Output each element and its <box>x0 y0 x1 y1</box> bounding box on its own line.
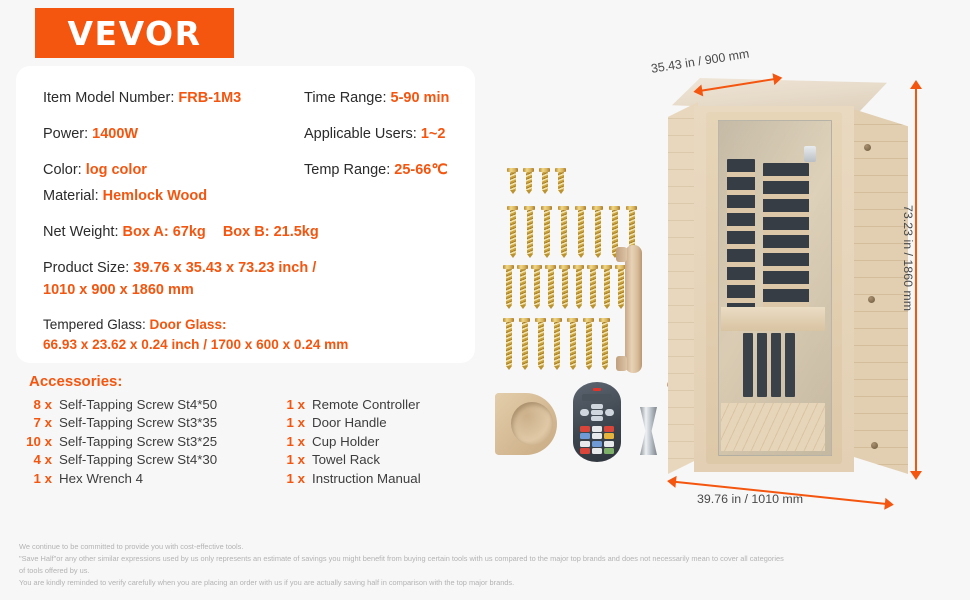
spec-value: 1~2 <box>421 126 446 142</box>
screw-icon <box>503 318 514 370</box>
spec-label: Material: <box>43 188 99 204</box>
spec-row-time-range: Time Range: 5-90 min <box>304 88 494 109</box>
accessory-name: Door Handle <box>312 415 387 430</box>
screw-icon <box>535 318 546 370</box>
screw-icon <box>523 168 534 194</box>
spec-value: Hemlock Wood <box>103 188 207 204</box>
sauna-hinge-bottom <box>871 442 878 449</box>
list-item: 1 x Towel Rack <box>279 452 421 470</box>
heater-panel-lower-1 <box>743 333 753 397</box>
accessory-qty: 10 x <box>26 434 52 449</box>
heater-panel-left <box>727 159 755 309</box>
disclaimer-line-4: You are kindly reminded to verify carefu… <box>19 577 949 589</box>
disclaimer-text: We continue to be committed to provide y… <box>19 541 949 589</box>
remote-controller-part <box>573 382 621 462</box>
accessory-qty: 1 x <box>279 452 305 467</box>
cup-holder-part <box>495 393 557 455</box>
disclaimer-line-3: of tools offered by us. <box>19 565 949 577</box>
spec-row-applicable-users: Applicable Users: 1~2 <box>304 124 494 145</box>
spec-value: FRB-1M3 <box>178 90 241 106</box>
remote-led <box>593 388 601 391</box>
dimension-label-depth: 35.43 in / 900 mm <box>650 46 750 75</box>
accessory-name: Cup Holder <box>312 434 379 449</box>
accessories-title: Accessories: <box>29 373 122 390</box>
accessory-name: Towel Rack <box>312 452 380 467</box>
accessory-qty: 7 x <box>26 415 52 430</box>
heater-panel-lower-2 <box>757 333 767 397</box>
sauna-bench <box>721 307 825 331</box>
vevor-logo: VEVOR <box>35 8 234 58</box>
list-item: 1 x Cup Holder <box>279 434 421 452</box>
screw-group-st3-35 <box>503 318 610 370</box>
sauna-floor <box>721 403 825 451</box>
screw-icon <box>575 206 586 258</box>
screw-icon <box>507 168 518 194</box>
spec-value-box-b: Box B: 21.5kg <box>223 224 319 240</box>
towel-rack-part <box>640 407 657 455</box>
accessories-list-right: 1 x Remote Controller 1 x Door Handle 1 … <box>279 397 421 489</box>
towel-rack-bottom <box>640 431 657 455</box>
accessory-qty: 8 x <box>26 397 52 412</box>
accessory-name: Instruction Manual <box>312 471 421 486</box>
screw-icon <box>559 265 570 309</box>
spec-label: Applicable Users: <box>304 126 417 142</box>
spec-value-line2: 66.93 x 23.62 x 0.24 inch / 1700 x 600 x… <box>43 337 348 352</box>
sauna-hinge-top <box>864 144 871 151</box>
spec-label: Product Size: <box>43 260 129 276</box>
door-handle-part <box>625 245 642 373</box>
spec-value: log color <box>86 162 147 178</box>
spec-value: 25-66℃ <box>394 162 447 178</box>
spec-row-model: Item Model Number: FRB-1M3 <box>43 88 293 109</box>
list-item: 1 x Hex Wrench 4 <box>26 471 217 489</box>
list-item: 4 x Self-Tapping Screw St4*30 <box>26 452 217 470</box>
list-item: 7 x Self-Tapping Screw St3*35 <box>26 415 217 433</box>
sauna-product-image <box>668 78 908 490</box>
screw-icon <box>503 265 514 309</box>
spec-label: Color: <box>43 162 82 178</box>
screw-icon <box>555 168 566 194</box>
spec-value-box-a: Box A: 67kg <box>123 224 206 240</box>
spec-column-right: Time Range: 5-90 min Applicable Users: 1… <box>304 88 494 196</box>
heater-panel-back <box>763 163 809 313</box>
spec-label: Time Range: <box>304 90 386 106</box>
spec-column-left: Item Model Number: FRB-1M3 Power: 1400W … <box>43 88 293 196</box>
list-item: 1 x Door Handle <box>279 415 421 433</box>
spec-label: Net Weight: <box>43 224 119 240</box>
accessory-qty: 1 x <box>279 415 305 430</box>
list-item: 1 x Remote Controller <box>279 397 421 415</box>
accessory-qty: 1 x <box>279 397 305 412</box>
screw-icon <box>567 318 578 370</box>
screw-group-st4-30 <box>507 168 566 194</box>
spec-value-line1: 39.76 x 35.43 x 73.23 inch / <box>133 260 316 276</box>
spec-row-temp-range: Temp Range: 25-66℃ <box>304 160 494 181</box>
sauna-hinge-middle <box>868 296 875 303</box>
towel-rack-top <box>640 407 657 431</box>
spec-value: 5-90 min <box>391 90 450 106</box>
screw-icon <box>583 318 594 370</box>
screw-icon <box>545 265 556 309</box>
accessory-name: Remote Controller <box>312 397 420 412</box>
spec-row-product-size: Product Size: 39.76 x 35.43 x 73.23 inch… <box>43 258 463 302</box>
accessory-name: Self-Tapping Screw St4*50 <box>59 397 217 412</box>
heater-panel-lower-4 <box>785 333 795 397</box>
sauna-glass-door <box>718 120 832 456</box>
dimension-arrow-height <box>906 80 926 480</box>
spec-row-power: Power: 1400W <box>43 124 293 145</box>
screw-icon <box>599 318 610 370</box>
screw-icon <box>558 206 569 258</box>
screw-icon <box>519 318 530 370</box>
accessory-qty: 1 x <box>26 471 52 486</box>
specification-card: Item Model Number: FRB-1M3 Power: 1400W … <box>16 66 475 363</box>
accessories-list-left: 8 x Self-Tapping Screw St4*50 7 x Self-T… <box>26 397 217 489</box>
spec-row-material: Material: Hemlock Wood <box>43 186 463 207</box>
screw-group-st3-25 <box>503 265 640 309</box>
heater-panel-lower-3 <box>771 333 781 397</box>
spec-label: Power: <box>43 126 88 142</box>
spec-row-net-weight: Net Weight: Box A: 67kg Box B: 21.5kg <box>43 222 463 243</box>
remote-dpad <box>580 404 614 422</box>
screw-icon <box>601 265 612 309</box>
screw-icon <box>539 168 550 194</box>
spec-label: Item Model Number: <box>43 90 174 106</box>
screw-icon <box>587 265 598 309</box>
screw-icon <box>573 265 584 309</box>
screw-icon <box>507 206 518 258</box>
spec-label: Temp Range: <box>304 162 390 178</box>
cup-holder-bowl <box>511 402 553 445</box>
accessory-name: Self-Tapping Screw St3*25 <box>59 434 217 449</box>
sauna-right-panel <box>850 108 908 474</box>
accessory-qty: 4 x <box>26 452 52 467</box>
list-item: 8 x Self-Tapping Screw St4*50 <box>26 397 217 415</box>
remote-screen <box>582 394 612 401</box>
screw-icon <box>517 265 528 309</box>
accessory-qty: 1 x <box>279 471 305 486</box>
parts-illustration <box>495 160 680 500</box>
disclaimer-line-1: We continue to be committed to provide y… <box>19 541 949 553</box>
spec-value-line1: Door Glass: <box>150 317 227 332</box>
screw-icon <box>541 206 552 258</box>
spec-row-color: Color: log color <box>43 160 293 181</box>
product-spec-page: VEVOR Item Model Number: FRB-1M3 Power: … <box>0 0 970 600</box>
accessory-qty: 1 x <box>279 434 305 449</box>
sauna-control-panel <box>804 146 816 162</box>
list-item: 1 x Instruction Manual <box>279 471 421 489</box>
accessory-name: Self-Tapping Screw St3*35 <box>59 415 217 430</box>
brand-name: VEVOR <box>67 14 201 53</box>
remote-keypad <box>580 426 614 454</box>
spec-label: Tempered Glass: <box>43 317 146 332</box>
spec-value-line2: 1010 x 900 x 1860 mm <box>43 282 194 298</box>
screw-icon <box>592 206 603 258</box>
screw-icon <box>524 206 535 258</box>
disclaimer-line-2: "Save Half"or any other similar expressi… <box>19 553 949 565</box>
spec-value: 1400W <box>92 126 138 142</box>
screw-icon <box>551 318 562 370</box>
spec-row-tempered-glass: Tempered Glass: Door Glass: 66.93 x 23.6… <box>43 315 463 356</box>
accessory-name: Self-Tapping Screw St4*30 <box>59 452 217 467</box>
screw-icon <box>531 265 542 309</box>
dimension-label-width: 39.76 in / 1010 mm <box>697 492 803 506</box>
accessory-name: Hex Wrench 4 <box>59 471 143 486</box>
list-item: 10 x Self-Tapping Screw St3*25 <box>26 434 217 452</box>
